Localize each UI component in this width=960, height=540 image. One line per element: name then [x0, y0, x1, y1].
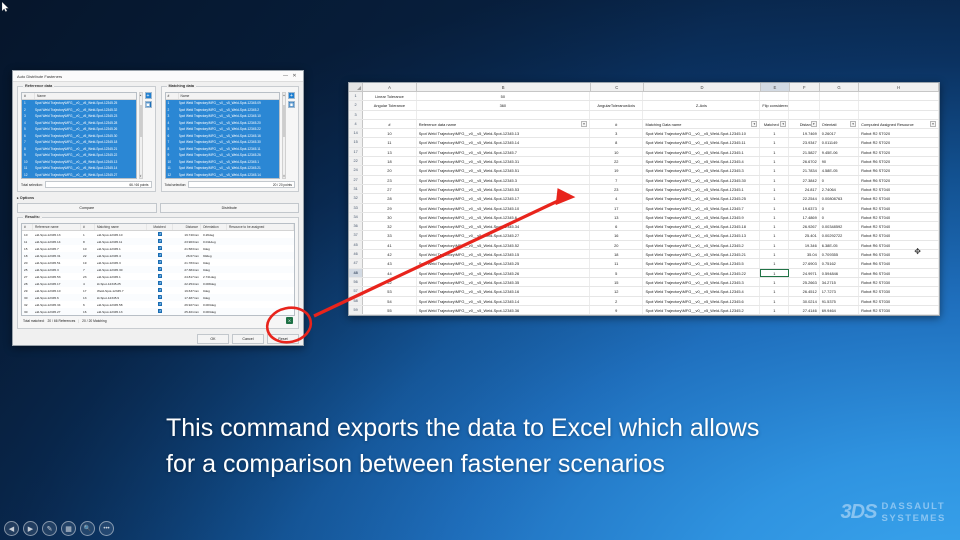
- cell-c33[interactable]: 17: [590, 204, 643, 212]
- minimize-icon[interactable]: —: [281, 73, 290, 79]
- cell-e27[interactable]: 1: [760, 176, 789, 184]
- distribute-button[interactable]: Distribute: [160, 203, 300, 213]
- excel-data-row[interactable]: 4743Spot Weld Trajectory\MFG__v0__v5_Wel…: [349, 259, 939, 268]
- cell-d17[interactable]: Spot Weld Trajectory\MFG__v0__v5_Weld-Sp…: [643, 148, 760, 156]
- cell-c32[interactable]: 4: [590, 194, 643, 202]
- cell-h24[interactable]: Robot R6 ST020: [859, 166, 939, 174]
- row-header[interactable]: 17: [349, 148, 363, 156]
- cell-g24[interactable]: 4.58E-05: [820, 166, 859, 174]
- cell-g57[interactable]: 17.7273: [820, 287, 859, 295]
- cell-a33[interactable]: 29: [363, 204, 416, 212]
- filter-dropdown-icon[interactable]: ▾: [780, 121, 786, 127]
- cell-c27[interactable]: 7: [590, 176, 643, 184]
- cell-d2[interactable]: Z-Axis: [643, 101, 760, 109]
- table-row[interactable]: 25eld-Spot-12345.37eld-Spot-12345.3027.3…: [22, 266, 294, 273]
- cell-e45[interactable]: 1: [760, 241, 789, 249]
- matching-list-scrollbar[interactable]: ▴ ▾: [282, 92, 286, 179]
- cell-g31[interactable]: 2.74064: [820, 185, 859, 193]
- cell-h34[interactable]: Robot R2 ST040: [859, 213, 939, 221]
- cell-b22[interactable]: Spot Weld Trajectory\MFG__v0__v5_Weld-Sp…: [417, 157, 590, 165]
- cell-h1[interactable]: [859, 92, 939, 100]
- column-header-d[interactable]: D: [644, 83, 761, 91]
- cell-f45[interactable]: 19.346: [789, 241, 820, 249]
- cell-a2[interactable]: Angular Tolerance: [363, 101, 416, 109]
- row-header[interactable]: 45: [349, 241, 363, 249]
- excel-data-row[interactable]: 3329Spot Weld Trajectory\MFG__v0__v5_Wel…: [349, 204, 939, 213]
- row-matched-checkbox[interactable]: [147, 295, 173, 301]
- row-header[interactable]: 48: [349, 269, 363, 277]
- pen-tool-button[interactable]: ✎: [42, 521, 57, 536]
- select-all-corner[interactable]: [349, 83, 363, 91]
- cell-h15[interactable]: Robot R2 ST020: [859, 138, 939, 146]
- cell-d61[interactable]: Spot Weld Trajectory\MFG__v0__v5_Weld-Sp…: [643, 315, 760, 316]
- cell-a48[interactable]: 44: [363, 269, 416, 277]
- cell-e4[interactable]: Matched▾: [760, 120, 789, 128]
- cell-f2[interactable]: [789, 101, 820, 109]
- cell-c59[interactable]: 9: [590, 306, 643, 314]
- cell-a58[interactable]: 54: [363, 297, 416, 305]
- scroll-down-icon[interactable]: ▾: [283, 174, 285, 178]
- cell-h32[interactable]: Robot R2 ST040: [859, 194, 939, 202]
- cell-b61[interactable]: Spot Weld Trajectory\MFG__v0__v5_Weld-Sp…: [417, 315, 590, 316]
- row-header[interactable]: 1: [349, 92, 363, 100]
- row-header[interactable]: 2: [349, 101, 363, 109]
- row-matched-checkbox[interactable]: [147, 302, 173, 308]
- excel-data-row[interactable]: 3733Spot Weld Trajectory\MFG__v0__v5_Wel…: [349, 231, 939, 240]
- cell-e14[interactable]: 1: [760, 129, 789, 137]
- cell-g37[interactable]: 0.00292722: [820, 231, 859, 239]
- cell-d48[interactable]: Spot Weld Trajectory\MFG__v0__v5_Weld-Sp…: [643, 269, 760, 277]
- cell-a31[interactable]: 27: [363, 185, 416, 193]
- cell-c24[interactable]: 19: [590, 166, 643, 174]
- cell-f34[interactable]: 17.4869: [789, 213, 820, 221]
- cell-g4[interactable]: Orientati▾: [820, 120, 859, 128]
- column-header-a[interactable]: A: [363, 83, 416, 91]
- cell-g27[interactable]: 0: [820, 176, 859, 184]
- cell-a14[interactable]: 10: [363, 129, 416, 137]
- cell-d15[interactable]: Spot Weld Trajectory\MFG__v0__v5_Weld-Sp…: [643, 138, 760, 146]
- cell-e59[interactable]: 1: [760, 306, 789, 314]
- filter-dropdown-icon[interactable]: ▾: [850, 121, 856, 127]
- cell-b31[interactable]: Spot Weld Trajectory\MFG__v0__v5_Weld-Sp…: [417, 185, 590, 193]
- cell-a36[interactable]: 32: [363, 222, 416, 230]
- cell-h2[interactable]: [859, 101, 939, 109]
- row-matched-checkbox[interactable]: [147, 253, 173, 259]
- row-header[interactable]: 22: [349, 157, 363, 165]
- excel-data-row[interactable]: 2218Spot Weld Trajectory\MFG__v0__v5_Wel…: [349, 157, 939, 166]
- cell-d32[interactable]: Spot Weld Trajectory\MFG__v0__v5_Weld-Sp…: [643, 194, 760, 202]
- cell-b32[interactable]: Spot Weld Trajectory\MFG__v0__v5_Weld-Sp…: [417, 194, 590, 202]
- cell-b36[interactable]: Spot Weld Trajectory\MFG__v0__v5_Weld-Sp…: [417, 222, 590, 230]
- row-matched-checkbox[interactable]: [147, 281, 173, 287]
- scroll-down-icon[interactable]: ▾: [140, 174, 142, 178]
- row-matched-checkbox[interactable]: [147, 274, 173, 280]
- cell-d1[interactable]: [643, 92, 760, 100]
- excel-column-headers[interactable]: ABCDEFGH: [349, 83, 939, 92]
- cell-d31[interactable]: Spot Weld Trajectory\MFG__v0__v5_Weld-Sp…: [643, 185, 760, 193]
- row-header[interactable]: 37: [349, 231, 363, 239]
- checkbox-checked-icon[interactable]: [158, 239, 163, 244]
- reset-button[interactable]: Reset: [267, 334, 299, 344]
- cell-g56[interactable]: 34.2715: [820, 278, 859, 286]
- cell-b59[interactable]: Spot Weld Trajectory\MFG__v0__v5_Weld-Sp…: [417, 306, 590, 314]
- row-matched-checkbox[interactable]: [147, 309, 173, 315]
- cell-g3[interactable]: [820, 111, 859, 119]
- cell-h36[interactable]: Robot R2 ST040: [859, 222, 939, 230]
- cell-e33[interactable]: 1: [760, 204, 789, 212]
- row-header[interactable]: 27: [349, 176, 363, 184]
- cell-f61[interactable]: 22.3664: [789, 315, 820, 316]
- table-row[interactable]: 11eld-Spot-12345.148eld-Spot-12345.1123.…: [22, 238, 294, 245]
- zoom-button[interactable]: 🔍: [80, 521, 95, 536]
- cell-b37[interactable]: Spot Weld Trajectory\MFG__v0__v5_Weld-Sp…: [417, 231, 590, 239]
- cell-d57[interactable]: Spot Weld Trajectory\MFG__v0__v5_Weld-Sp…: [643, 287, 760, 295]
- cell-c57[interactable]: 12: [590, 287, 643, 295]
- table-row[interactable]: 27eld-Spot-12345.5323eld-Spot-12345.124.…: [22, 273, 294, 280]
- cell-d4[interactable]: Matching Data name▾: [643, 120, 760, 128]
- excel-data-row[interactable]: 3228Spot Weld Trajectory\MFG__v0__v5_Wel…: [349, 194, 939, 203]
- cell-g34[interactable]: 0: [820, 213, 859, 221]
- cell-b33[interactable]: Spot Weld Trajectory\MFG__v0__v5_Weld-Sp…: [417, 204, 590, 212]
- cell-a24[interactable]: 20: [363, 166, 416, 174]
- row-header[interactable]: 59: [349, 306, 363, 314]
- cell-a27[interactable]: 23: [363, 176, 416, 184]
- cell-f46[interactable]: 35.04: [789, 250, 820, 258]
- cell-a57[interactable]: 53: [363, 287, 416, 295]
- cell-e24[interactable]: 1: [760, 166, 789, 174]
- cell-b48[interactable]: Spot Weld Trajectory\MFG__v0__v5_Weld-Sp…: [417, 269, 590, 277]
- cell-a1[interactable]: Linear Tolerance: [363, 92, 416, 100]
- cell-c56[interactable]: 15: [590, 278, 643, 286]
- cell-h48[interactable]: Robot R6 ST040: [859, 269, 939, 277]
- cell-h22[interactable]: Robot R6 ST020: [859, 157, 939, 165]
- excel-data-row[interactable]: 4642Spot Weld Trajectory\MFG__v0__v5_Wel…: [349, 250, 939, 259]
- scroll-up-icon[interactable]: ▴: [283, 93, 285, 97]
- cell-c1[interactable]: [590, 92, 643, 100]
- list-item[interactable]: 12Spot Weld Trajectory\MFG__v0__v5_Weld-…: [166, 172, 280, 179]
- cell-h45[interactable]: Robot R6 ST040: [859, 241, 939, 249]
- cell-e15[interactable]: 1: [760, 138, 789, 146]
- scroll-thumb[interactable]: [283, 105, 285, 137]
- cell-c22[interactable]: 22: [590, 157, 643, 165]
- cell-a34[interactable]: 30: [363, 213, 416, 221]
- cell-b15[interactable]: Spot Weld Trajectory\MFG__v0__v5_Weld-Sp…: [417, 138, 590, 146]
- add-matching-icon[interactable]: +: [288, 92, 295, 99]
- row-matched-checkbox[interactable]: [147, 232, 173, 238]
- cell-d59[interactable]: Spot Weld Trajectory\MFG__v0__v5_Weld-Sp…: [643, 306, 760, 314]
- cell-f27[interactable]: 27.3842: [789, 176, 820, 184]
- cell-d3[interactable]: [643, 111, 760, 119]
- excel-data-row[interactable]: 3127Spot Weld Trajectory\MFG__v0__v5_Wel…: [349, 185, 939, 194]
- cell-d45[interactable]: Spot Weld Trajectory\MFG__v0__v5_Weld-Sp…: [643, 241, 760, 249]
- checkbox-checked-icon[interactable]: [158, 281, 163, 286]
- list-item[interactable]: 12Spot Weld Trajectory\MFG__v0__v5_Weld-…: [22, 172, 136, 179]
- slide-overview-button[interactable]: ▦: [61, 521, 76, 536]
- row-header[interactable]: 61: [349, 315, 363, 316]
- cell-e31[interactable]: 1: [760, 185, 789, 193]
- cell-g17[interactable]: 9.45E-06: [820, 148, 859, 156]
- cell-e48[interactable]: 1: [760, 269, 789, 277]
- column-header-g[interactable]: G: [820, 83, 859, 91]
- checkbox-checked-icon[interactable]: [158, 232, 163, 237]
- expand-triangle-icon[interactable]: ▸: [17, 196, 19, 200]
- row-header[interactable]: 31: [349, 185, 363, 193]
- cell-e57[interactable]: 1: [760, 287, 789, 295]
- matching-list[interactable]: # Name 1Spot Weld Trajectory\MFG__v0__v5…: [165, 92, 281, 179]
- cell-f59[interactable]: 27.4146: [789, 306, 820, 314]
- cell-g36[interactable]: 0.00348592: [820, 222, 859, 230]
- filter-dropdown-icon[interactable]: ▾: [930, 121, 936, 127]
- cell-b27[interactable]: Spot Weld Trajectory\MFG__v0__v5_Weld-Sp…: [417, 176, 590, 184]
- cell-g32[interactable]: 0.00808763: [820, 194, 859, 202]
- cell-f58[interactable]: 30.0214: [789, 297, 820, 305]
- cell-c36[interactable]: 6: [590, 222, 643, 230]
- row-matched-checkbox[interactable]: [147, 267, 173, 273]
- cell-c58[interactable]: 2: [590, 297, 643, 305]
- table-row[interactable]: 18eld-Spot-12345.3122eld-Spot-12345.426.…: [22, 252, 294, 259]
- column-header-e[interactable]: E: [761, 83, 790, 91]
- export-to-excel-icon[interactable]: X: [286, 317, 293, 324]
- table-row[interactable]: 15eld-Spot-12345.710eld-Spot-12345.121.5…: [22, 245, 294, 252]
- cell-f17[interactable]: 21.5827: [789, 148, 820, 156]
- cell-a47[interactable]: 43: [363, 259, 416, 267]
- cell-h3[interactable]: [859, 111, 939, 119]
- excel-data-row[interactable]: 1Linear Tolerance50: [349, 92, 939, 101]
- cell-f14[interactable]: 19.7469: [789, 129, 820, 137]
- cell-d14[interactable]: Spot Weld Trajectory\MFG__v0__v5_Weld-Sp…: [643, 129, 760, 137]
- excel-header-row[interactable]: 4#Reference data name▾#Matching Data nam…: [349, 120, 939, 129]
- cell-e36[interactable]: 1: [760, 222, 789, 230]
- excel-data-row[interactable]: 4844Spot Weld Trajectory\MFG__v0__v5_Wel…: [349, 269, 939, 278]
- cell-d47[interactable]: Spot Weld Trajectory\MFG__v0__v5_Weld-Sp…: [643, 259, 760, 267]
- cell-a15[interactable]: 11: [363, 138, 416, 146]
- cell-f3[interactable]: [789, 111, 820, 119]
- matching-list-rows[interactable]: 1Spot Weld Trajectory\MFG__v0__v5_Weld-S…: [166, 100, 280, 178]
- excel-grid[interactable]: 1Linear Tolerance502Angular Tolerance360…: [349, 92, 939, 316]
- cell-b3[interactable]: [417, 111, 590, 119]
- results-table[interactable]: # Reference name # Matching name Matched…: [21, 223, 295, 316]
- cell-b2[interactable]: 360: [417, 101, 590, 109]
- dialog-title-bar[interactable]: Auto Distribute Fasteners — ✕: [13, 71, 303, 82]
- row-header[interactable]: 46: [349, 250, 363, 258]
- excel-data-row[interactable]: 2723Spot Weld Trajectory\MFG__v0__v5_Wel…: [349, 176, 939, 185]
- cell-d27[interactable]: Spot Weld Trajectory\MFG__v0__v5_Weld-Sp…: [643, 176, 760, 184]
- excel-data-row[interactable]: 1410Spot Weld Trajectory\MFG__v0__v5_Wel…: [349, 129, 939, 138]
- filter-dropdown-icon[interactable]: ▾: [581, 121, 587, 127]
- cell-g15[interactable]: 0.011149: [820, 138, 859, 146]
- cell-b14[interactable]: Spot Weld Trajectory\MFG__v0__v5_Weld-Sp…: [417, 129, 590, 137]
- excel-data-row[interactable]: 1713Spot Weld Trajectory\MFG__v0__v5_Wel…: [349, 148, 939, 157]
- excel-data-row[interactable]: 5652Spot Weld Trajectory\MFG__v0__v5_Wel…: [349, 278, 939, 287]
- cell-f56[interactable]: 25.2663: [789, 278, 820, 286]
- cell-g14[interactable]: 0.26017: [820, 129, 859, 137]
- cell-a46[interactable]: 42: [363, 250, 416, 258]
- row-header[interactable]: 56: [349, 278, 363, 286]
- cell-h31[interactable]: Robot R2 ST040: [859, 185, 939, 193]
- cell-c15[interactable]: 8: [590, 138, 643, 146]
- cell-b56[interactable]: Spot Weld Trajectory\MFG__v0__v5_Weld-Sp…: [417, 278, 590, 286]
- cell-c2[interactable]: AngularToleranceAxis: [590, 101, 643, 109]
- column-header-b[interactable]: B: [417, 83, 591, 91]
- column-header-c[interactable]: C: [591, 83, 644, 91]
- cell-e47[interactable]: 1: [760, 259, 789, 267]
- reference-list-scrollbar[interactable]: ▴ ▾: [139, 92, 143, 179]
- cell-g46[interactable]: 0.709355: [820, 250, 859, 258]
- checkbox-checked-icon[interactable]: [158, 309, 163, 314]
- cell-d36[interactable]: Spot Weld Trajectory\MFG__v0__v5_Weld-Sp…: [643, 222, 760, 230]
- cell-d24[interactable]: Spot Weld Trajectory\MFG__v0__v5_Weld-Sp…: [643, 166, 760, 174]
- cell-c3[interactable]: [590, 111, 643, 119]
- cell-h47[interactable]: Robot R6 ST040: [859, 259, 939, 267]
- cell-f4[interactable]: Distan▾: [789, 120, 820, 128]
- excel-data-row[interactable]: 6156Spot Weld Trajectory\MFG__v0__v5_Wel…: [349, 315, 939, 316]
- checkbox-checked-icon[interactable]: [158, 274, 163, 279]
- cell-e2[interactable]: Flip considered: [760, 101, 789, 109]
- cell-g1[interactable]: [820, 92, 859, 100]
- compare-button[interactable]: Compare: [17, 203, 157, 213]
- row-header[interactable]: 33: [349, 204, 363, 212]
- row-header[interactable]: 24: [349, 166, 363, 174]
- row-header[interactable]: 14: [349, 129, 363, 137]
- cell-h59[interactable]: Robot R2 ST030: [859, 306, 939, 314]
- excel-spreadsheet-window[interactable]: ABCDEFGH 1Linear Tolerance502Angular Tol…: [348, 82, 940, 316]
- row-header[interactable]: 15: [349, 138, 363, 146]
- cell-d22[interactable]: Spot Weld Trajectory\MFG__v0__v5_Weld-Sp…: [643, 157, 760, 165]
- remove-matching-icon[interactable]: ▣: [288, 101, 295, 108]
- cell-h17[interactable]: Robot R2 ST020: [859, 148, 939, 156]
- cell-c47[interactable]: 11: [590, 259, 643, 267]
- cancel-button[interactable]: Cancel: [232, 334, 264, 344]
- excel-data-row[interactable]: 5854Spot Weld Trajectory\MFG__v0__v5_Wel…: [349, 297, 939, 306]
- row-header[interactable]: 36: [349, 222, 363, 230]
- cell-a37[interactable]: 33: [363, 231, 416, 239]
- cell-f36[interactable]: 26.9267: [789, 222, 820, 230]
- cell-d46[interactable]: Spot Weld Trajectory\MFG__v0__v5_Weld-Sp…: [643, 250, 760, 258]
- row-header[interactable]: 57: [349, 287, 363, 295]
- cell-a56[interactable]: 52: [363, 278, 416, 286]
- scroll-thumb[interactable]: [140, 105, 142, 137]
- presentation-toolbar[interactable]: ◀▶✎▦🔍•••: [4, 521, 114, 536]
- excel-data-row[interactable]: 3: [349, 111, 939, 120]
- cell-f37[interactable]: 25.401: [789, 231, 820, 239]
- row-matched-checkbox[interactable]: [147, 288, 173, 294]
- excel-data-row[interactable]: 5753Spot Weld Trajectory\MFG__v0__v5_Wel…: [349, 287, 939, 296]
- row-matched-checkbox[interactable]: [147, 239, 173, 245]
- cell-d34[interactable]: Spot Weld Trajectory\MFG__v0__v5_Weld-Sp…: [643, 213, 760, 221]
- row-header[interactable]: 4: [349, 120, 363, 128]
- column-header-f[interactable]: F: [790, 83, 820, 91]
- checkbox-checked-icon[interactable]: [158, 246, 163, 251]
- excel-data-row[interactable]: 2420Spot Weld Trajectory\MFG__v0__v5_Wel…: [349, 166, 939, 175]
- checkbox-checked-icon[interactable]: [158, 260, 163, 265]
- cell-d33[interactable]: Spot Weld Trajectory\MFG__v0__v5_Weld-Sp…: [643, 204, 760, 212]
- cell-f47[interactable]: 27.6903: [789, 259, 820, 267]
- cell-a17[interactable]: 13: [363, 148, 416, 156]
- cell-b57[interactable]: Spot Weld Trajectory\MFG__v0__v5_Weld-Sp…: [417, 287, 590, 295]
- cell-g48[interactable]: 0.594846: [820, 269, 859, 277]
- cell-f1[interactable]: [789, 92, 820, 100]
- ok-button[interactable]: OK: [197, 334, 229, 344]
- cell-h27[interactable]: Robot R6 ST020: [859, 176, 939, 184]
- cell-h46[interactable]: Robot R6 ST040: [859, 250, 939, 258]
- cell-d37[interactable]: Spot Weld Trajectory\MFG__v0__v5_Weld-Sp…: [643, 231, 760, 239]
- table-row[interactable]: 32eld-Spot-12345.346eld-Spot-12345.5826.…: [22, 301, 294, 308]
- cell-g58[interactable]: 91.5375: [820, 297, 859, 305]
- table-row[interactable]: 29eld-Spot-12345.1017Weld-Spot-12345.719…: [22, 287, 294, 294]
- cell-c17[interactable]: 10: [590, 148, 643, 156]
- row-header[interactable]: 32: [349, 194, 363, 202]
- checkbox-checked-icon[interactable]: [158, 295, 163, 300]
- cell-b24[interactable]: Spot Weld Trajectory\MFG__v0__v5_Weld-Sp…: [417, 166, 590, 174]
- cell-e34[interactable]: 1: [760, 213, 789, 221]
- cell-b45[interactable]: Spot Weld Trajectory\MFG__v0__v5_Weld-Sp…: [417, 241, 590, 249]
- row-header[interactable]: 58: [349, 297, 363, 305]
- cell-a45[interactable]: 41: [363, 241, 416, 249]
- cell-e1[interactable]: [760, 92, 789, 100]
- cell-h14[interactable]: Robot R2 ST020: [859, 129, 939, 137]
- excel-data-row[interactable]: 2Angular Tolerance360AngularToleranceAxi…: [349, 101, 939, 110]
- cell-c46[interactable]: 18: [590, 250, 643, 258]
- cell-f57[interactable]: 26.4512: [789, 287, 820, 295]
- row-header[interactable]: 3: [349, 111, 363, 119]
- cell-c45[interactable]: 20: [590, 241, 643, 249]
- cell-f22[interactable]: 26.6702: [789, 157, 820, 165]
- cell-a61[interactable]: 56: [363, 315, 416, 316]
- cell-e58[interactable]: 1: [760, 297, 789, 305]
- cell-g45[interactable]: 6.38E-05: [820, 241, 859, 249]
- checkbox-checked-icon[interactable]: [158, 267, 163, 272]
- cell-a4[interactable]: #: [363, 120, 416, 128]
- close-icon[interactable]: ✕: [290, 73, 299, 79]
- cell-e32[interactable]: 1: [760, 194, 789, 202]
- results-table-rows[interactable]: 10eld-Spot-12345.131eld-Spot-12345.1019.…: [22, 231, 294, 315]
- cell-h4[interactable]: Computed Assigned Resource▾: [859, 120, 939, 128]
- checkbox-checked-icon[interactable]: [158, 302, 163, 307]
- cell-c4[interactable]: #: [590, 120, 643, 128]
- cell-c48[interactable]: 5: [590, 269, 643, 277]
- cell-f33[interactable]: 19.6373: [789, 204, 820, 212]
- reference-list-rows[interactable]: 1Spot Weld Trajectory\MFG__v0__v5_Weld-S…: [22, 100, 136, 178]
- excel-data-row[interactable]: 1511Spot Weld Trajectory\MFG__v0__v5_Wel…: [349, 138, 939, 147]
- row-header[interactable]: 34: [349, 213, 363, 221]
- cell-h61[interactable]: Robot R2 ST030: [859, 315, 939, 316]
- options-section-header[interactable]: ▸ Options: [17, 196, 299, 200]
- cell-e17[interactable]: 1: [760, 148, 789, 156]
- row-matched-checkbox[interactable]: [147, 246, 173, 252]
- previous-slide-button[interactable]: ◀: [4, 521, 19, 536]
- cell-f15[interactable]: 23.9347: [789, 138, 820, 146]
- cell-e46[interactable]: 1: [760, 250, 789, 258]
- cell-a59[interactable]: 55: [363, 306, 416, 314]
- remove-reference-icon[interactable]: ▣: [145, 101, 152, 108]
- cell-c31[interactable]: 23: [590, 185, 643, 193]
- scroll-up-icon[interactable]: ▴: [140, 93, 142, 97]
- cell-e56[interactable]: 1: [760, 278, 789, 286]
- cell-c34[interactable]: 13: [590, 213, 643, 221]
- row-header[interactable]: 47: [349, 259, 363, 267]
- cell-b1[interactable]: 50: [417, 92, 590, 100]
- cell-a22[interactable]: 18: [363, 157, 416, 165]
- more-options-button[interactable]: •••: [99, 521, 114, 536]
- cell-e61[interactable]: 1: [760, 315, 789, 316]
- cell-g47[interactable]: 0.75162: [820, 259, 859, 267]
- table-row[interactable]: 30eld-Spot-12345.2716eld-Spot-12345.1325…: [22, 308, 294, 315]
- table-row[interactable]: 28eld-Spot-12345.174ld-Spot-12345.2522.2…: [22, 280, 294, 287]
- cell-h57[interactable]: Robot R2 ST030: [859, 287, 939, 295]
- cell-d58[interactable]: Spot Weld Trajectory\MFG__v0__v5_Weld-Sp…: [643, 297, 760, 305]
- cell-c14[interactable]: 3: [590, 129, 643, 137]
- filter-dropdown-icon[interactable]: ▾: [811, 121, 817, 127]
